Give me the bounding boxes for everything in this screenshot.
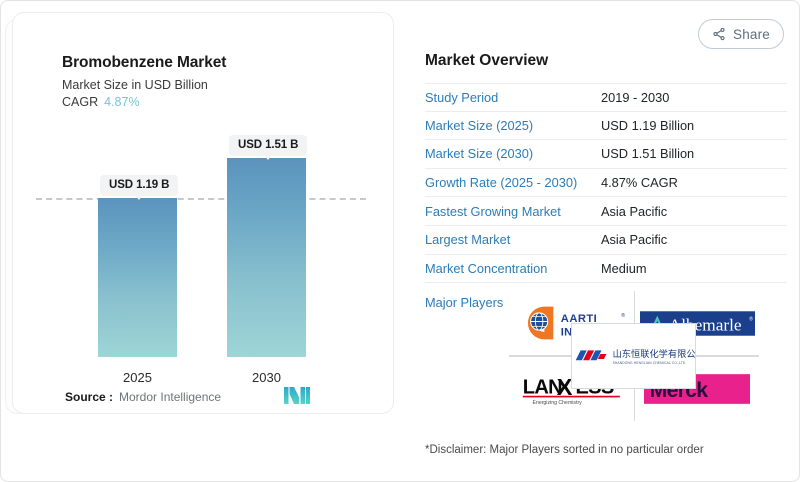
chart-subtitle: Market Size in USD Billion — [62, 78, 208, 92]
table-row: Market Size (2025) USD 1.19 Billion — [425, 112, 787, 141]
share-nodes-icon — [712, 27, 726, 41]
chart-title: Bromobenzene Market — [62, 54, 226, 72]
table-value: 2019 - 2030 — [601, 90, 669, 105]
table-value: 4.87% CAGR — [601, 175, 678, 190]
chart-cagr-label: CAGR — [62, 95, 98, 109]
table-row: Fastest Growing Market Asia Pacific — [425, 197, 787, 226]
table-key: Market Size (2025) — [425, 118, 601, 133]
svg-text:®: ® — [621, 312, 625, 319]
overview-title: Market Overview — [425, 52, 548, 70]
table-row: Growth Rate (2025 - 2030) 4.87% CAGR — [425, 169, 787, 198]
share-button[interactable]: Share — [698, 19, 784, 49]
chart-card — [12, 12, 394, 414]
chart-cagr: CAGR 4.87% — [62, 95, 140, 109]
table-key: Largest Market — [425, 232, 601, 247]
table-key: Fastest Growing Market — [425, 204, 601, 219]
player-logo-shandong-henglian: 山东恒联化学有限公司 SHANDONG HENGLIAN CHEMICAL CO… — [571, 323, 696, 389]
table-value: USD 1.51 Billion — [601, 146, 694, 161]
table-value: USD 1.19 Billion — [601, 118, 694, 133]
svg-text:®: ® — [749, 315, 753, 322]
major-players-logo-grid: AARTI INDUSTRIES ® Albemarle ® LAN X ESS… — [509, 291, 759, 421]
mordor-intelligence-logo-icon — [284, 387, 310, 404]
major-players-label: Major Players — [425, 295, 503, 310]
table-row: Largest Market Asia Pacific — [425, 226, 787, 255]
chart-source-value: Mordor Intelligence — [119, 390, 221, 404]
svg-text:山东恒联化学有限公司: 山东恒联化学有限公司 — [613, 348, 695, 359]
share-button-label: Share — [733, 27, 770, 42]
chart-cagr-value: 4.87% — [104, 95, 139, 109]
shandong-henglian-chemical-logo-icon: 山东恒联化学有限公司 SHANDONG HENGLIAN CHEMICAL CO… — [572, 344, 695, 369]
disclaimer-text: *Disclaimer: Major Players sorted in no … — [425, 444, 704, 456]
table-row: Market Size (2030) USD 1.51 Billion — [425, 140, 787, 169]
table-value: Asia Pacific — [601, 232, 667, 247]
table-key: Market Size (2030) — [425, 146, 601, 161]
table-key: Market Concentration — [425, 261, 601, 276]
svg-text:Energizing Chemistry: Energizing Chemistry — [532, 400, 582, 406]
table-row: Study Period 2019 - 2030 — [425, 83, 787, 112]
overview-table: Study Period 2019 - 2030 Market Size (20… — [425, 83, 787, 283]
svg-text:SHANDONG HENGLIAN CHEMICAL CO.: SHANDONG HENGLIAN CHEMICAL CO.,LTD — [613, 360, 686, 364]
table-key: Study Period — [425, 90, 601, 105]
chart-source: Source : Mordor Intelligence — [65, 390, 221, 404]
table-row: Market Concentration Medium — [425, 255, 787, 284]
table-value: Asia Pacific — [601, 204, 667, 219]
table-value: Medium — [601, 261, 647, 276]
chart-source-label: Source : — [65, 390, 113, 404]
market-overview-infographic: Share Bromobenzene Market Market Size in… — [0, 0, 800, 482]
table-key: Growth Rate (2025 - 2030) — [425, 175, 601, 190]
